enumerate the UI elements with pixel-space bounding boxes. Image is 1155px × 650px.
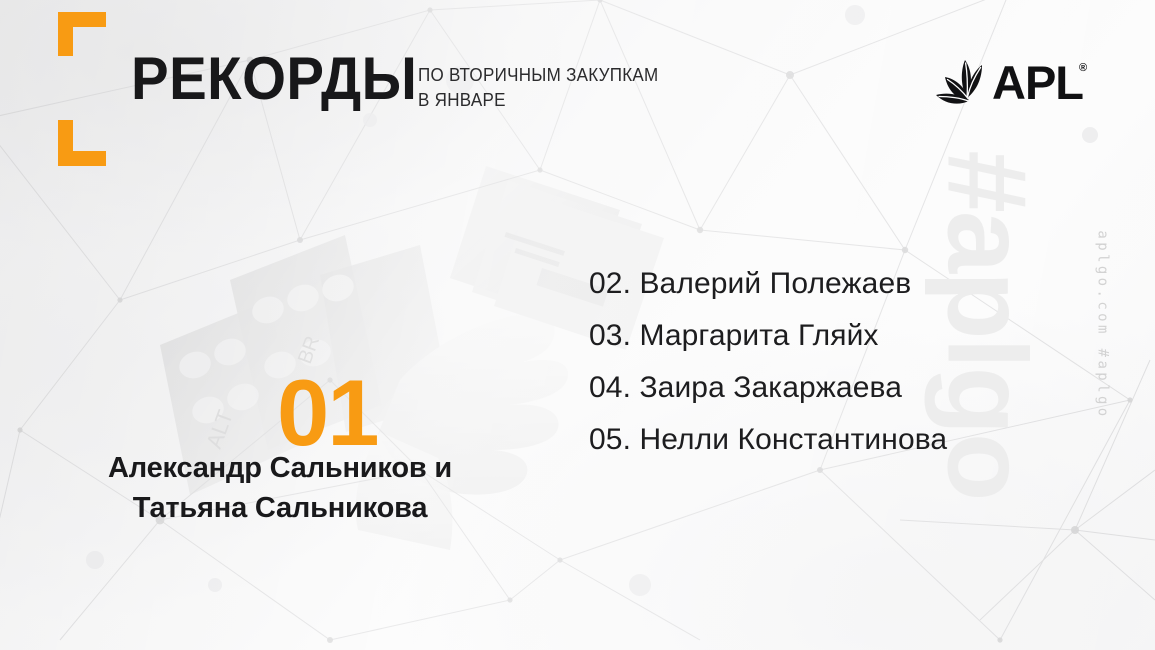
corner-bracket-top-left-icon — [58, 12, 106, 56]
watermark-aplgo-large: #aplgo — [931, 151, 1043, 500]
watermark-aplgo-url: aplgo.com #aplgo — [1095, 230, 1111, 419]
list-item: 02. Валерий Полежаев — [589, 258, 947, 310]
page-title: РЕКОРДЫ — [131, 49, 417, 109]
list-item: 04. Заира Закаржаева — [589, 362, 947, 414]
corner-bracket-bottom-left-icon — [58, 120, 106, 166]
winner-name: Александр Сальников и Татьяна Сальникова — [0, 448, 560, 528]
presentation-slide: ALT BR — [0, 0, 1155, 650]
leaf-icon — [932, 54, 994, 116]
list-item: 03. Маргарита Гляйх — [589, 310, 947, 362]
registered-mark-icon: ® — [1079, 62, 1087, 74]
page-subtitle: ПО ВТОРИЧНЫМ ЗАКУПКАМ В ЯНВАРЕ — [418, 62, 659, 112]
apl-wordmark: APL — [992, 59, 1083, 106]
winner-rank: 01 — [277, 366, 378, 460]
list-item: 05. Нелли Константинова — [589, 414, 947, 466]
apl-logo: APL ® — [932, 54, 1092, 116]
runners-up-list: 02. Валерий Полежаев 03. Маргарита Гляйх… — [589, 258, 947, 466]
